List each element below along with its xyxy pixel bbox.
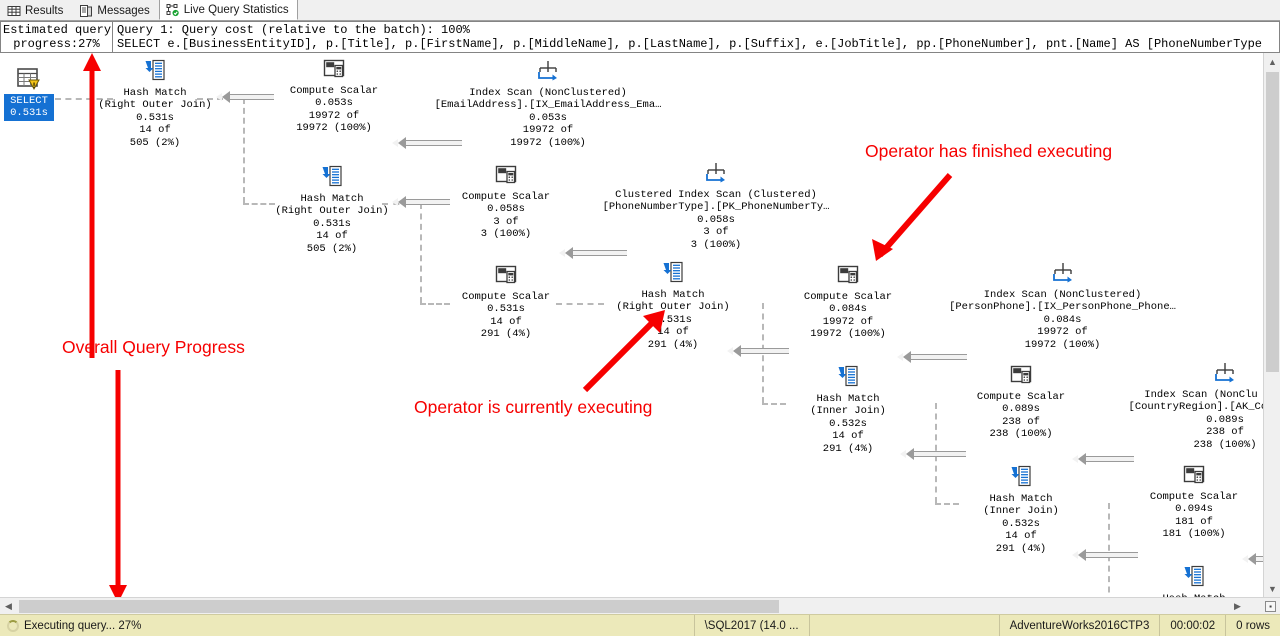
estimated-progress-line2: progress:27%: [3, 37, 110, 51]
node-line: 0.058s: [600, 214, 832, 226]
plan-node-lines: Compute Scalar 0.094s 181 of 181 (100%): [1138, 491, 1250, 541]
select-badge-label: SELECT: [9, 95, 49, 107]
node-line: 0.532s: [965, 518, 1077, 530]
grid-icon: [7, 4, 21, 18]
query-cost-label: Query 1: Query cost (relative to the bat…: [117, 23, 1275, 37]
plan-node-index-scan-countryregion[interactable]: Index Scan (NonClu [CountryRegion].[AK_C…: [1140, 361, 1280, 451]
node-line: 3 of: [600, 226, 832, 238]
node-line: [EmailAddress].[IX_EmailAddress_Ema…: [408, 99, 688, 111]
node-line: Index Scan (NonClustered): [408, 87, 688, 99]
plan-node-hash-match-4[interactable]: Hash Match (Inner Join) 0.532s 14 of 291…: [792, 365, 904, 455]
plan-node-compute-scalar-1[interactable]: Compute Scalar 0.053s 19972 of 19972 (10…: [278, 59, 390, 135]
plan-node-select-badge[interactable]: SELECT 0.531s: [4, 94, 54, 121]
dashed-connector: [935, 503, 959, 505]
plan-node-compute-scalar-5[interactable]: Compute Scalar 0.089s 238 of 238 (100%): [965, 365, 1077, 441]
plan-node-lines: Compute Scalar 0.531s 14 of 291 (4%): [450, 291, 562, 341]
node-line: 14 of: [614, 326, 732, 338]
dashed-connector: [243, 203, 275, 205]
plan-node-index-scan-personphone[interactable]: Index Scan (NonClustered) [PersonPhone].…: [945, 261, 1180, 351]
node-line: Compute Scalar: [278, 85, 390, 97]
plan-node-hash-match-6[interactable]: Hash Match: [1138, 565, 1250, 597]
node-line: 0.084s: [945, 314, 1180, 326]
query-plan-header: Estimated query progress:27% Query 1: Qu…: [0, 21, 1280, 53]
annotation-overall-progress: Overall Query Progress: [62, 337, 245, 358]
node-line: 14 of: [273, 230, 391, 242]
node-line: 238 (100%): [965, 428, 1077, 440]
node-line: (Right Outer Join): [614, 301, 732, 313]
plan-node-hash-match-3[interactable]: Hash Match (Right Outer Join) 0.531s 14 …: [614, 261, 732, 351]
node-line: Compute Scalar: [1138, 491, 1250, 503]
index-scan-icon: [945, 261, 1180, 288]
compute-scalar-icon: [450, 165, 562, 190]
index-scan-icon: [408, 59, 688, 86]
node-line: 0.531s: [273, 218, 391, 230]
query-sql-text: SELECT e.[BusinessEntityID], p.[Title], …: [117, 37, 1275, 51]
node-line: 505 (2%): [96, 137, 214, 149]
node-line: Hash Match: [273, 193, 391, 205]
node-line: (Right Outer Join): [273, 205, 391, 217]
hash-match-icon: [965, 465, 1077, 492]
plan-node-lines: Compute Scalar 0.053s 19972 of 19972 (10…: [278, 85, 390, 135]
result-pane-tabstrip: Results Messages: [0, 0, 1280, 21]
node-line: Hash Match: [792, 393, 904, 405]
node-line: Index Scan (NonClu: [1092, 389, 1280, 401]
plan-node-lines: Hash Match (Inner Join) 0.532s 14 of 291…: [792, 393, 904, 455]
index-scan-icon: [600, 161, 832, 188]
node-line: 291 (4%): [965, 543, 1077, 555]
node-line: 14 of: [792, 430, 904, 442]
compute-scalar-icon: [450, 265, 562, 290]
tab-live-query-statistics-label: Live Query Statistics: [184, 4, 289, 16]
status-database: AdventureWorks2016CTP3: [999, 615, 1160, 636]
node-line: 238 of: [1140, 426, 1280, 438]
node-line: 14 of: [450, 316, 562, 328]
node-line: Compute Scalar: [450, 191, 562, 203]
plan-node-clustered-index-scan-phonenumbertype[interactable]: Clustered Index Scan (Clustered) [PhoneN…: [600, 161, 832, 251]
node-line: 14 of: [96, 124, 214, 136]
node-line: Hash Match: [614, 289, 732, 301]
status-bar: Executing query... 27% \SQL2017 (14.0 ..…: [0, 614, 1280, 636]
hash-match-icon: [792, 365, 904, 392]
node-line: 0.531s: [450, 303, 562, 315]
node-line: Compute Scalar: [965, 391, 1077, 403]
node-line: 19972 (100%): [278, 122, 390, 134]
plan-node-lines: Index Scan (NonClustered) [PersonPhone].…: [945, 289, 1180, 351]
status-user: [809, 615, 999, 636]
tab-results-label: Results: [25, 5, 63, 17]
node-line: 0.089s: [1140, 414, 1280, 426]
compute-scalar-icon: [278, 59, 390, 84]
plan-node-hash-match-1[interactable]: Hash Match (Right Outer Join) 0.531s 14 …: [96, 59, 214, 149]
node-line: 19972 of: [408, 124, 688, 136]
node-line: 19972 of: [278, 110, 390, 122]
node-line: 291 (4%): [450, 328, 562, 340]
compute-scalar-icon: [792, 265, 904, 290]
scroll-up-icon[interactable]: ▲: [1264, 53, 1280, 70]
compute-scalar-icon: [1138, 465, 1250, 490]
node-line: Hash Match: [965, 493, 1077, 505]
plan-node-lines: Compute Scalar 0.058s 3 of 3 (100%): [450, 191, 562, 241]
node-line: 19972 (100%): [792, 328, 904, 340]
dashed-connector: [243, 98, 245, 203]
node-line: 0.053s: [408, 112, 688, 124]
query-text-block: Query 1: Query cost (relative to the bat…: [112, 21, 1280, 53]
spinner-icon: [7, 620, 19, 632]
node-line: 3 of: [450, 216, 562, 228]
node-line: 0.084s: [792, 303, 904, 315]
node-line: 3 (100%): [600, 239, 832, 251]
node-line: 3 (100%): [450, 228, 562, 240]
dashed-connector: [1108, 503, 1110, 597]
estimated-progress-line1: Estimated query: [3, 23, 110, 37]
plan-node-lines: Clustered Index Scan (Clustered) [PhoneN…: [600, 189, 832, 251]
status-elapsed-time: 00:00:02: [1159, 615, 1225, 636]
plan-node-compute-scalar-6[interactable]: Compute Scalar 0.094s 181 of 181 (100%): [1138, 465, 1250, 541]
node-line: 0.531s: [614, 314, 732, 326]
plan-node-lines: Hash Match (Inner Join) 0.532s 14 of 291…: [965, 493, 1077, 555]
node-line: (Right Outer Join): [96, 99, 214, 111]
live-query-statistics-window: Results Messages: [0, 0, 1280, 636]
node-line: [CountryRegion].[AK_Cou: [1092, 401, 1280, 413]
node-line: [PersonPhone].[IX_PersonPhone_Phone…: [945, 301, 1180, 313]
document-icon: [79, 4, 93, 18]
horizontal-scroll-thumb[interactable]: [19, 600, 779, 613]
node-line: 291 (4%): [792, 443, 904, 455]
node-line: 181 (100%): [1138, 528, 1250, 540]
node-line: 0.058s: [450, 203, 562, 215]
plan-node-hash-match-2[interactable]: Hash Match (Right Outer Join) 0.531s 14 …: [273, 165, 391, 255]
node-line: 505 (2%): [273, 243, 391, 255]
node-line: Clustered Index Scan (Clustered): [600, 189, 832, 201]
node-line: Compute Scalar: [792, 291, 904, 303]
compute-scalar-icon: [965, 365, 1077, 390]
node-line: Compute Scalar: [450, 291, 562, 303]
tab-messages[interactable]: Messages: [72, 0, 158, 20]
execution-plan-canvas[interactable]: SELECT 0.531s Hash Match (Right Out: [0, 53, 1280, 597]
canvas-horizontal-scrollbar[interactable]: ◀ ▶ ▪: [0, 597, 1280, 614]
plan-node-lines: Compute Scalar 0.084s 19972 of 19972 (10…: [792, 291, 904, 341]
dashed-connector: [420, 203, 422, 303]
select-badge-cost: 0.531s: [9, 107, 49, 119]
hash-match-icon: [96, 59, 214, 86]
plan-node-compute-scalar-3[interactable]: Compute Scalar 0.531s 14 of 291 (4%): [450, 265, 562, 341]
annotation-operator-finished: Operator has finished executing: [865, 141, 1112, 162]
node-line: (Inner Join): [965, 505, 1077, 517]
scroll-right-icon[interactable]: ▶: [1229, 598, 1246, 615]
status-row-count: 0 rows: [1225, 615, 1280, 636]
dashed-connector: [420, 303, 450, 305]
node-line: 238 (100%): [1140, 439, 1280, 451]
plan-node-lines: Hash Match (Right Outer Join) 0.531s 14 …: [96, 87, 214, 149]
status-server: \SQL2017 (14.0 ...: [694, 615, 809, 636]
node-line: 19972 of: [792, 316, 904, 328]
node-line: 238 of: [965, 416, 1077, 428]
plan-node-compute-scalar-2[interactable]: Compute Scalar 0.058s 3 of 3 (100%): [450, 165, 562, 241]
plan-node-compute-scalar-4[interactable]: Compute Scalar 0.084s 19972 of 19972 (10…: [792, 265, 904, 341]
scroll-left-icon[interactable]: ◀: [0, 598, 17, 615]
node-line: 0.089s: [965, 403, 1077, 415]
zoom-to-fit-icon[interactable]: ▪: [1265, 601, 1276, 612]
hash-match-icon: [1138, 565, 1250, 592]
plan-node-lines: Hash Match (Right Outer Join) 0.531s 14 …: [273, 193, 391, 255]
annotation-operator-executing: Operator is currently executing: [414, 397, 652, 418]
scroll-down-icon[interactable]: ▼: [1264, 580, 1280, 597]
canvas-vertical-scrollbar[interactable]: ▲ ▼: [1263, 53, 1280, 597]
hash-match-icon: [273, 165, 391, 192]
estimated-query-progress: Estimated query progress:27%: [0, 21, 112, 53]
node-line: [PhoneNumberType].[PK_PhoneNumberTy…: [600, 201, 832, 213]
tab-results[interactable]: Results: [0, 0, 72, 20]
tab-live-query-statistics[interactable]: Live Query Statistics: [159, 0, 298, 20]
live-stats-icon: [166, 3, 180, 17]
dashed-connector: [762, 403, 786, 405]
plan-node-index-scan-emailaddress[interactable]: Index Scan (NonClustered) [EmailAddress]…: [408, 59, 688, 149]
node-line: 291 (4%): [614, 339, 732, 351]
plan-node-lines: Index Scan (NonClu [CountryRegion].[AK_C…: [1092, 389, 1280, 451]
node-line: 19972 of: [945, 326, 1180, 338]
node-line: 0.531s: [96, 112, 214, 124]
node-line: 0.053s: [278, 97, 390, 109]
plan-node-hash-match-5[interactable]: Hash Match (Inner Join) 0.532s 14 of 291…: [965, 465, 1077, 555]
node-line: 14 of: [965, 530, 1077, 542]
vertical-scroll-thumb[interactable]: [1266, 72, 1279, 372]
node-line: Index Scan (NonClustered): [945, 289, 1180, 301]
node-line: 19972 (100%): [408, 137, 688, 149]
plan-node-lines: Compute Scalar 0.089s 238 of 238 (100%): [965, 391, 1077, 441]
status-executing-group: Executing query... 27%: [0, 620, 141, 632]
scroll-corner: ▪: [1246, 598, 1280, 615]
node-line: 181 of: [1138, 516, 1250, 528]
status-executing-text: Executing query... 27%: [24, 620, 141, 632]
hash-match-icon: [614, 261, 732, 288]
plan-node-lines: Hash Match (Right Outer Join) 0.531s 14 …: [614, 289, 732, 351]
dashed-connector: [556, 303, 604, 305]
tab-messages-label: Messages: [97, 5, 149, 17]
node-line: 0.532s: [792, 418, 904, 430]
index-scan-icon: [1140, 361, 1280, 388]
plan-node-lines: Index Scan (NonClustered) [EmailAddress]…: [408, 87, 688, 149]
node-line: 19972 (100%): [945, 339, 1180, 351]
node-line: Hash Match: [96, 87, 214, 99]
node-line: 0.094s: [1138, 503, 1250, 515]
node-line: (Inner Join): [792, 405, 904, 417]
